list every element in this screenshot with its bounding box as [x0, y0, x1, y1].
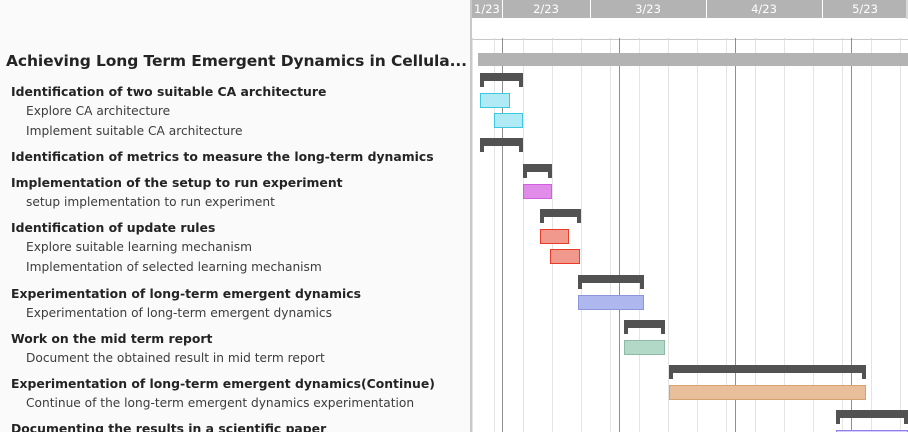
task-label-summary: Experimentation of long-term emergent dy… — [0, 286, 361, 301]
gantt-summary-bar[interactable] — [624, 320, 665, 328]
task-label-summary: Identification of metrics to measure the… — [0, 149, 434, 164]
month-label: 2/23 — [502, 0, 590, 19]
gantt-task-bar[interactable] — [624, 340, 665, 355]
gridline-week — [755, 40, 756, 432]
task-label-leaf: Document the obtained result in mid term… — [0, 351, 325, 365]
task-label-summary: Documenting the results in a scientific … — [0, 421, 326, 432]
gantt-timeline-panel[interactable]: 1/232/233/234/235/23 2530613202761320273… — [472, 0, 908, 432]
task-row-leaf[interactable]: Explore suitable learning mechanism — [0, 236, 472, 258]
gantt-summary-bar[interactable] — [578, 275, 644, 283]
task-label-summary: Experimentation of long-term emergent dy… — [0, 376, 435, 391]
gridline-week — [784, 40, 785, 432]
month-separator — [502, 0, 503, 19]
gridline-week — [639, 40, 640, 432]
task-row-leaf[interactable]: Implementation of selected learning mech… — [0, 256, 472, 278]
task-row-leaf[interactable]: Experimentation of long-term emergent dy… — [0, 302, 472, 324]
gantt-summary-bar[interactable] — [836, 410, 908, 418]
gantt-summary-bar[interactable] — [523, 164, 552, 172]
gantt-task-bar[interactable] — [578, 295, 644, 310]
gridline-week — [523, 40, 524, 432]
gridline-week — [581, 40, 582, 432]
gridline-week — [842, 40, 843, 432]
gantt-summary-bar[interactable] — [540, 209, 581, 217]
task-row-leaf[interactable]: setup implementation to run experiment — [0, 191, 472, 213]
task-row-summary[interactable]: Implementation of the setup to run exper… — [0, 171, 472, 193]
month-label: 1/23 — [472, 0, 502, 19]
gantt-summary-bar[interactable] — [480, 73, 523, 81]
timeline-day-header: 253061320276132027310172418 — [472, 19, 908, 40]
page-title: Achieving Long Term Emergent Dynamics in… — [0, 52, 467, 70]
month-label: 5/23 — [822, 0, 908, 19]
task-label-summary: Implementation of the setup to run exper… — [0, 175, 343, 190]
task-row-summary[interactable]: Identification of two suitable CA archit… — [0, 80, 472, 102]
month-separator — [706, 0, 707, 19]
task-label-leaf: Continue of the long-term emergent dynam… — [0, 396, 414, 410]
gantt-task-bar[interactable] — [480, 93, 510, 108]
task-row-summary[interactable]: Experimentation of long-term emergent dy… — [0, 282, 472, 304]
task-list-panel[interactable]: Achieving Long Term Emergent Dynamics in… — [0, 0, 472, 432]
gridline-week — [900, 40, 901, 432]
gridline-month — [851, 40, 852, 432]
gantt-summary-bar[interactable] — [669, 365, 866, 373]
project-summary-band[interactable] — [478, 53, 908, 66]
month-separator — [590, 0, 591, 19]
task-label-leaf: Experimentation of long-term emergent dy… — [0, 306, 332, 320]
gridline-week — [871, 40, 872, 432]
gantt-plot-area[interactable] — [472, 40, 908, 432]
gantt-task-bar[interactable] — [494, 113, 523, 128]
timeline-month-header: 1/232/233/234/235/23 — [472, 0, 908, 19]
gantt-task-bar[interactable] — [540, 229, 569, 244]
gantt-task-bar[interactable] — [550, 249, 580, 264]
task-label-leaf: Implementation of selected learning mech… — [0, 260, 322, 274]
page-title-row[interactable]: Achieving Long Term Emergent Dynamics in… — [0, 50, 472, 72]
gridline-week — [472, 40, 473, 432]
task-label-summary: Identification of two suitable CA archit… — [0, 84, 326, 99]
task-row-summary[interactable]: Identification of metrics to measure the… — [0, 145, 472, 167]
task-row-leaf[interactable]: Implement suitable CA architecture — [0, 120, 472, 142]
gridline-week — [610, 40, 611, 432]
gridline-week — [726, 40, 727, 432]
task-label-summary: Work on the mid term report — [0, 331, 212, 346]
gantt-chart-app: Achieving Long Term Emergent Dynamics in… — [0, 0, 908, 432]
task-label-summary: Identification of update rules — [0, 220, 215, 235]
task-row-summary[interactable]: Experimentation of long-term emergent dy… — [0, 372, 472, 394]
task-label-leaf: Explore suitable learning mechanism — [0, 240, 252, 254]
task-row-summary[interactable]: Documenting the results in a scientific … — [0, 417, 472, 432]
task-row-summary[interactable]: Work on the mid term report — [0, 327, 472, 349]
gantt-task-bar[interactable] — [523, 184, 552, 199]
task-label-leaf: setup implementation to run experiment — [0, 195, 275, 209]
task-label-leaf: Explore CA architecture — [0, 104, 170, 118]
month-separator — [822, 0, 823, 19]
task-row-summary[interactable]: Identification of update rules — [0, 216, 472, 238]
gridline-week — [813, 40, 814, 432]
gridline-month — [735, 40, 736, 432]
task-label-leaf: Implement suitable CA architecture — [0, 124, 243, 138]
gantt-summary-bar[interactable] — [480, 138, 523, 146]
month-label: 3/23 — [590, 0, 706, 19]
month-label: 4/23 — [706, 0, 822, 19]
gantt-task-bar[interactable] — [669, 385, 866, 400]
task-row-leaf[interactable]: Continue of the long-term emergent dynam… — [0, 392, 472, 414]
task-row-leaf[interactable]: Explore CA architecture — [0, 100, 472, 122]
gridline-month — [619, 40, 620, 432]
task-row-leaf[interactable]: Document the obtained result in mid term… — [0, 347, 472, 369]
gridline-week — [697, 40, 698, 432]
